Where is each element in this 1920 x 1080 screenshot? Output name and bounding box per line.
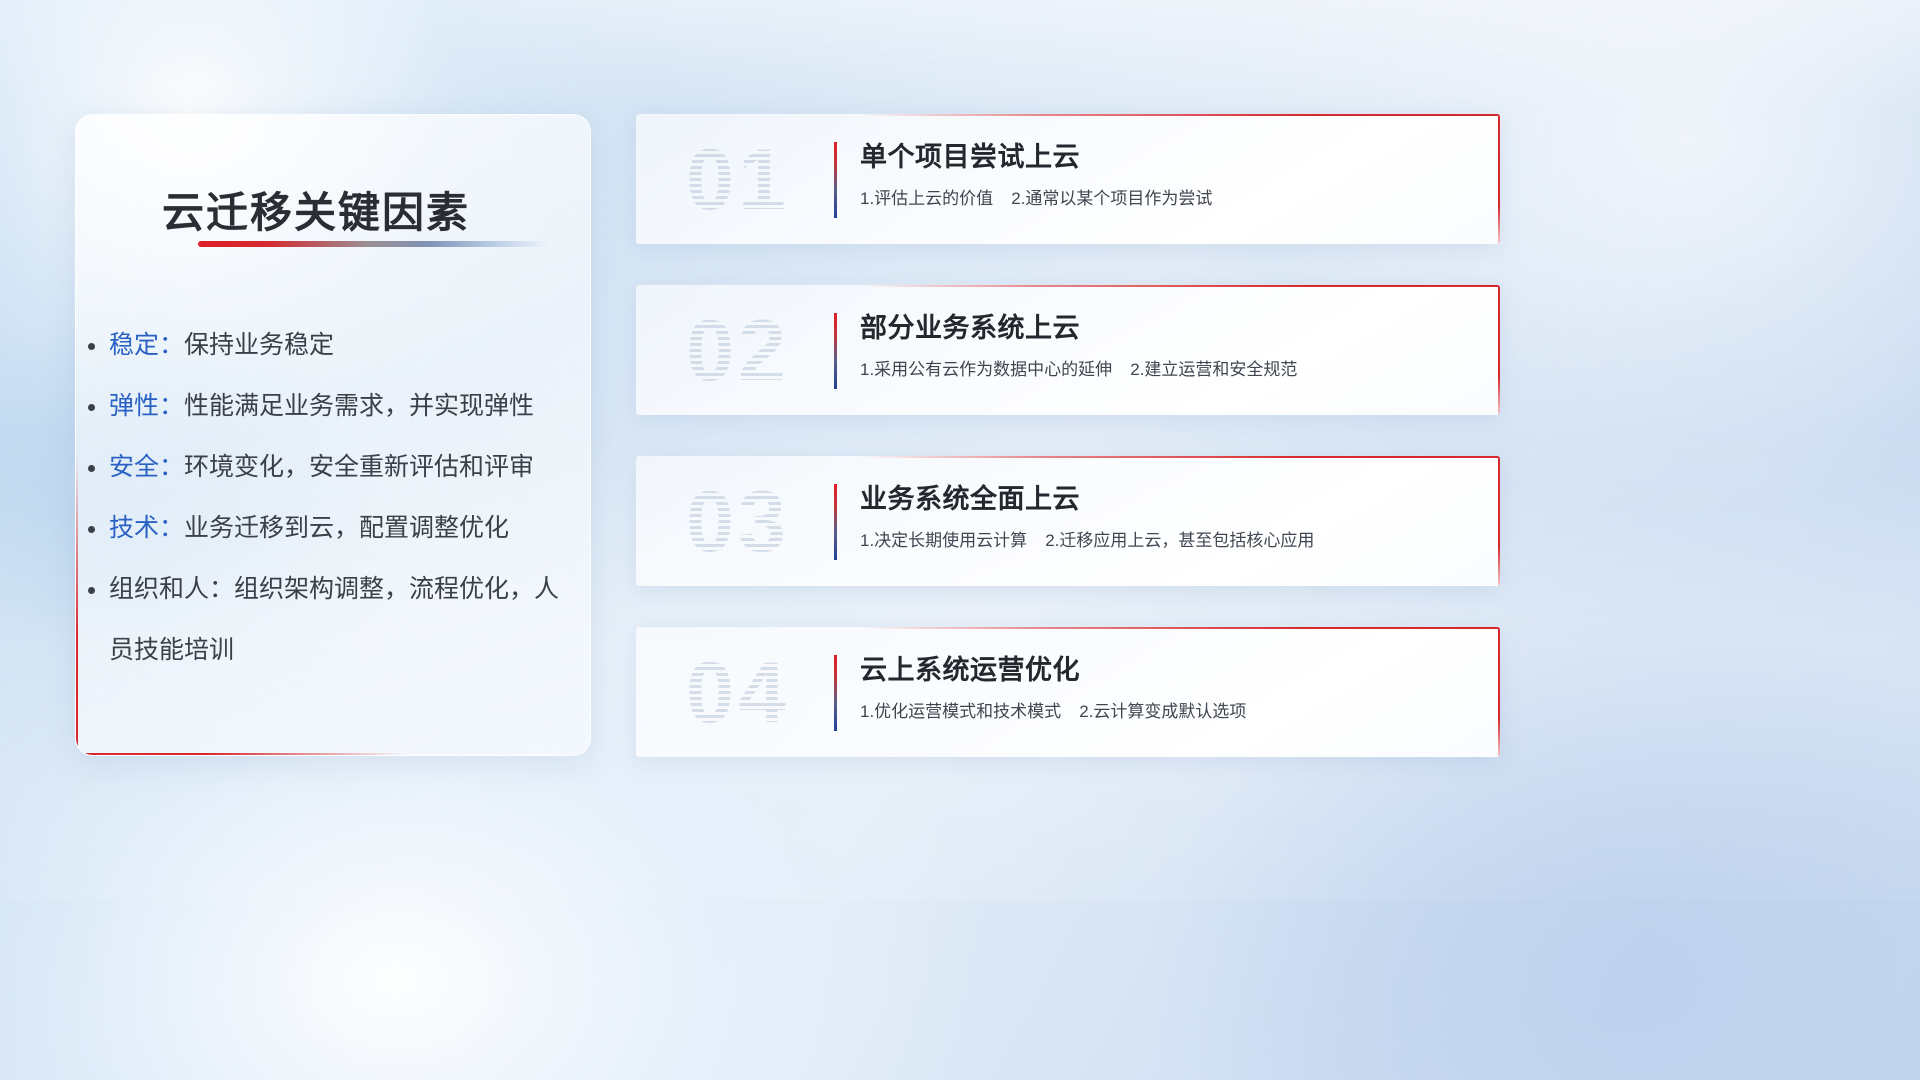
stage-body: 部分业务系统上云1.采用公有云作为数据中心的延伸2.建立运营和安全规范 [860,309,1466,383]
accent-bar [834,313,837,389]
key-factor-item: 技术：业务迁移到云，配置调整优化 [109,498,572,559]
stage-title: 部分业务系统上云 [860,309,1466,347]
stage-point-1: 1.决定长期使用云计算 [860,531,1027,550]
stage-number: 01 [658,124,818,236]
key-factor-item: 组织和人：组织架构调整，流程优化，人员技能培训 [109,559,572,681]
migration-stages-list: 01单个项目尝试上云1.评估上云的价值2.通常以某个项目作为尝试02部分业务系统… [636,114,1500,798]
stage-description: 1.决定长期使用云计算2.迁移应用上云，甚至包括核心应用 [860,528,1466,554]
stage-point-2: 2.云计算变成默认选项 [1079,702,1246,721]
key-factor-text: 环境变化，安全重新评估和评审 [184,453,534,481]
key-factors-panel: 云迁移关键因素 稳定：保持业务稳定弹性：性能满足业务需求，并实现弹性安全：环境变… [75,114,591,756]
stage-description: 1.评估上云的价值2.通常以某个项目作为尝试 [860,186,1466,212]
stage-body: 云上系统运营优化1.优化运营模式和技术模式2.云计算变成默认选项 [860,651,1466,725]
stage-title: 业务系统全面上云 [860,480,1466,518]
accent-bar [834,655,837,731]
stage-description: 1.采用公有云作为数据中心的延伸2.建立运营和安全规范 [860,357,1466,383]
migration-stage-card[interactable]: 04云上系统运营优化1.优化运营模式和技术模式2.云计算变成默认选项 [636,627,1500,757]
key-factor-text: 性能满足业务需求，并实现弹性 [184,392,534,420]
stage-title: 云上系统运营优化 [860,651,1466,689]
accent-bar [834,142,837,218]
stage-description: 1.优化运营模式和技术模式2.云计算变成默认选项 [860,699,1466,725]
migration-stage-card[interactable]: 03业务系统全面上云1.决定长期使用云计算2.迁移应用上云，甚至包括核心应用 [636,456,1500,586]
key-factor-label: 安全： [109,453,184,481]
migration-stage-card[interactable]: 01单个项目尝试上云1.评估上云的价值2.通常以某个项目作为尝试 [636,114,1500,244]
stage-point-2: 2.通常以某个项目作为尝试 [1011,189,1212,208]
stage-number: 04 [658,637,818,749]
title-underline-gradient [198,241,548,247]
key-factor-item: 安全：环境变化，安全重新评估和评审 [109,437,572,498]
key-factor-text: 保持业务稳定 [184,331,334,359]
key-factor-label: 稳定： [109,331,184,359]
page-title: 云迁移关键因素 [162,179,470,240]
stage-body: 单个项目尝试上云1.评估上云的价值2.通常以某个项目作为尝试 [860,138,1466,212]
accent-bar [834,484,837,560]
key-factor-text: 业务迁移到云，配置调整优化 [184,514,509,542]
stage-point-2: 2.迁移应用上云，甚至包括核心应用 [1045,531,1314,550]
stage-title: 单个项目尝试上云 [860,138,1466,176]
migration-stage-card[interactable]: 02部分业务系统上云1.采用公有云作为数据中心的延伸2.建立运营和安全规范 [636,285,1500,415]
stage-point-1: 1.采用公有云作为数据中心的延伸 [860,360,1112,379]
key-factor-item: 稳定：保持业务稳定 [109,315,572,376]
key-factor-label: 技术： [109,514,184,542]
key-factor-label: 弹性： [109,392,184,420]
key-factors-list: 稳定：保持业务稳定弹性：性能满足业务需求，并实现弹性安全：环境变化，安全重新评估… [109,315,572,681]
stage-point-2: 2.建立运营和安全规范 [1130,360,1297,379]
key-factor-label: 组织和人： [109,575,234,603]
stage-number: 03 [658,466,818,578]
stage-body: 业务系统全面上云1.决定长期使用云计算2.迁移应用上云，甚至包括核心应用 [860,480,1466,554]
key-factor-item: 弹性：性能满足业务需求，并实现弹性 [109,376,572,437]
stage-number: 02 [658,295,818,407]
stage-point-1: 1.优化运营模式和技术模式 [860,702,1061,721]
stage-point-1: 1.评估上云的价值 [860,189,993,208]
